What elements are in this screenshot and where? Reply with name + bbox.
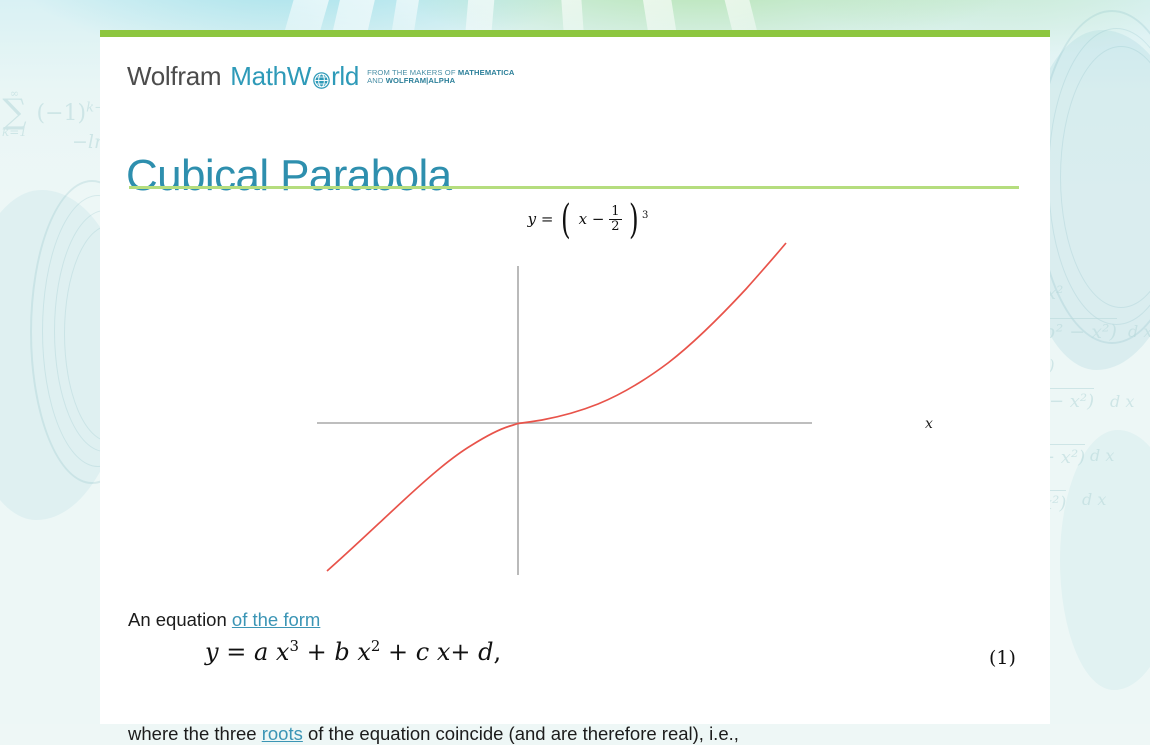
eq1-a: a [254, 638, 268, 666]
paragraph-text-2b: of the equation coincide (and are theref… [303, 723, 739, 744]
title-divider [129, 186, 1019, 189]
logo-tagline: FROM THE MAKERS OF MATHEMATICA AND WOLFR… [367, 69, 514, 86]
eq1-equals: = [226, 638, 246, 666]
figure-cubical-parabola: y = ( x − 1 2 )3 x [100, 197, 1050, 597]
site-logo[interactable]: Wolfram MathW rld FROM THE MAKERS OF MAT… [127, 63, 515, 89]
plot-curve [327, 243, 786, 571]
eq1-plus-1: + [307, 638, 327, 666]
display-equation-1: y = a x3 + b x2 + c x+ d, [205, 637, 501, 666]
globe-icon [312, 68, 331, 87]
eq1-exponent-2: 2 [371, 637, 380, 655]
plot-x-axis-label: x [925, 416, 933, 432]
logo-mathworld-text: MathW rld [230, 63, 359, 89]
equation-number-1: (1) [989, 647, 1016, 669]
background-formula-r8-dx: d x [1082, 490, 1106, 509]
eq1-x3: x [437, 638, 451, 666]
eq1-exponent-3: 3 [289, 637, 298, 655]
paragraph-an-equation: An equation of the form [128, 608, 320, 631]
logo-wolfram-text: Wolfram [127, 63, 221, 89]
eq1-x2: x [357, 638, 371, 666]
paragraph-where-roots: where the three roots of the equation co… [128, 722, 739, 745]
page-title: Cubical Parabola [126, 154, 452, 198]
background-formula-r3: d x [1128, 322, 1150, 341]
link-of-the-form[interactable]: of the form [232, 609, 320, 630]
cubic-plot [100, 197, 1050, 597]
link-roots[interactable]: roots [262, 723, 303, 744]
eq1-plus-3: + [450, 638, 470, 666]
eq1-b: b [334, 638, 349, 666]
paragraph-text-2a: where the three [128, 723, 262, 744]
eq1-c: c [416, 638, 429, 666]
eq1-y: y [205, 638, 219, 666]
logo-rld-text: rld [331, 63, 359, 89]
logo-mathw-text: MathW [230, 63, 311, 89]
content-panel: Wolfram MathW rld FROM THE MAKERS OF MAT… [100, 30, 1050, 724]
eq1-plus-2: + [388, 638, 408, 666]
eq1-x1: x [276, 638, 290, 666]
sum-lower-limit: k=1 [2, 126, 27, 138]
paragraph-text-1: An equation [128, 609, 232, 630]
background-formula-r7-dx: d x [1090, 446, 1114, 465]
background-formula-r6-dx: d x [1110, 392, 1134, 411]
eq1-d: d [478, 638, 493, 666]
tagline-line-2: AND WOLFRAM|ALPHA [367, 77, 514, 86]
eq1-comma: , [494, 638, 502, 666]
